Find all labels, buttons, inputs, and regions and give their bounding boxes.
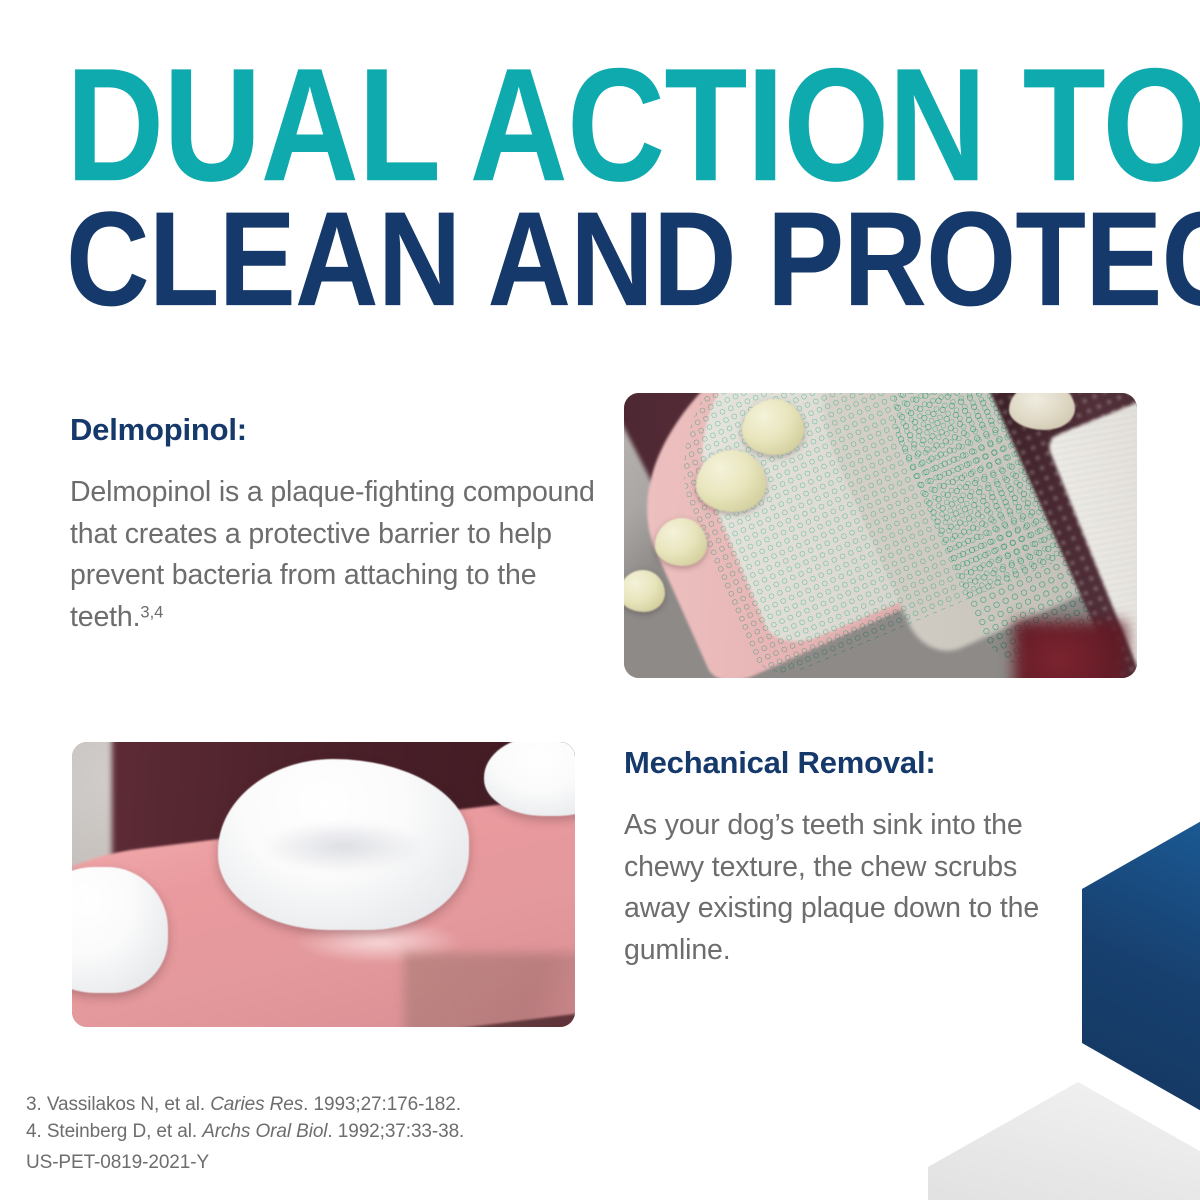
photo-plaque-deposit [655,518,707,566]
infographic-canvas: DUAL ACTION TO CLEAN AND PROTECT Delmopi… [0,0,1200,1200]
photo-red-blur-layer [1014,621,1127,678]
delmopinol-reference-superscript: 3,4 [140,602,163,621]
photo-gum-shadow [404,953,575,1027]
headline-line-2: CLEAN AND PROTECT [66,198,1052,322]
job-code: US-PET-0819-2021-Y [26,1152,209,1174]
footnote-journal: Caries Res [210,1094,303,1115]
delmopinol-heading: Delmopinol: [70,412,247,448]
footnote-list: 3. Vassilakos N, et al. Caries Res. 1993… [26,1092,464,1146]
mechanical-removal-body-text: As your dog’s teeth sink into the chewy … [624,805,1074,971]
footnote-number: 3. [26,1094,42,1115]
footnote-number: 4. [26,1121,42,1142]
photo-plaque-deposit [696,450,766,512]
footnote-citation: . 1992;37:33-38. [327,1121,464,1142]
mechanical-removal-heading: Mechanical Removal: [624,745,935,781]
decorative-hexagon-navy [1082,812,1200,1120]
footnote-item: 3. Vassilakos N, et al. Caries Res. 1993… [26,1092,464,1119]
footnote-authors: Steinberg D, et al. [47,1121,197,1142]
clean-teeth-photo [72,742,575,1027]
photo-plaque-deposit [742,399,804,455]
headline-line-1: DUAL ACTION TO [66,52,1042,200]
photo-molar-tooth [218,759,470,930]
decorative-hexagon-grey [928,1082,1200,1200]
footnote-item: 4. Steinberg D, et al. Archs Oral Biol. … [26,1119,464,1146]
delmopinol-barrier-photo [624,393,1137,678]
footnote-journal: Archs Oral Biol [202,1121,327,1142]
footnote-authors: Vassilakos N, et al. [47,1094,205,1115]
page-title: DUAL ACTION TO CLEAN AND PROTECT [66,52,1156,316]
delmopinol-body-text: Delmopinol is a plaque-fighting compound… [70,472,610,638]
footnote-citation: . 1993;27:176-182. [303,1094,461,1115]
photo-plaque-deposit [1009,393,1075,430]
